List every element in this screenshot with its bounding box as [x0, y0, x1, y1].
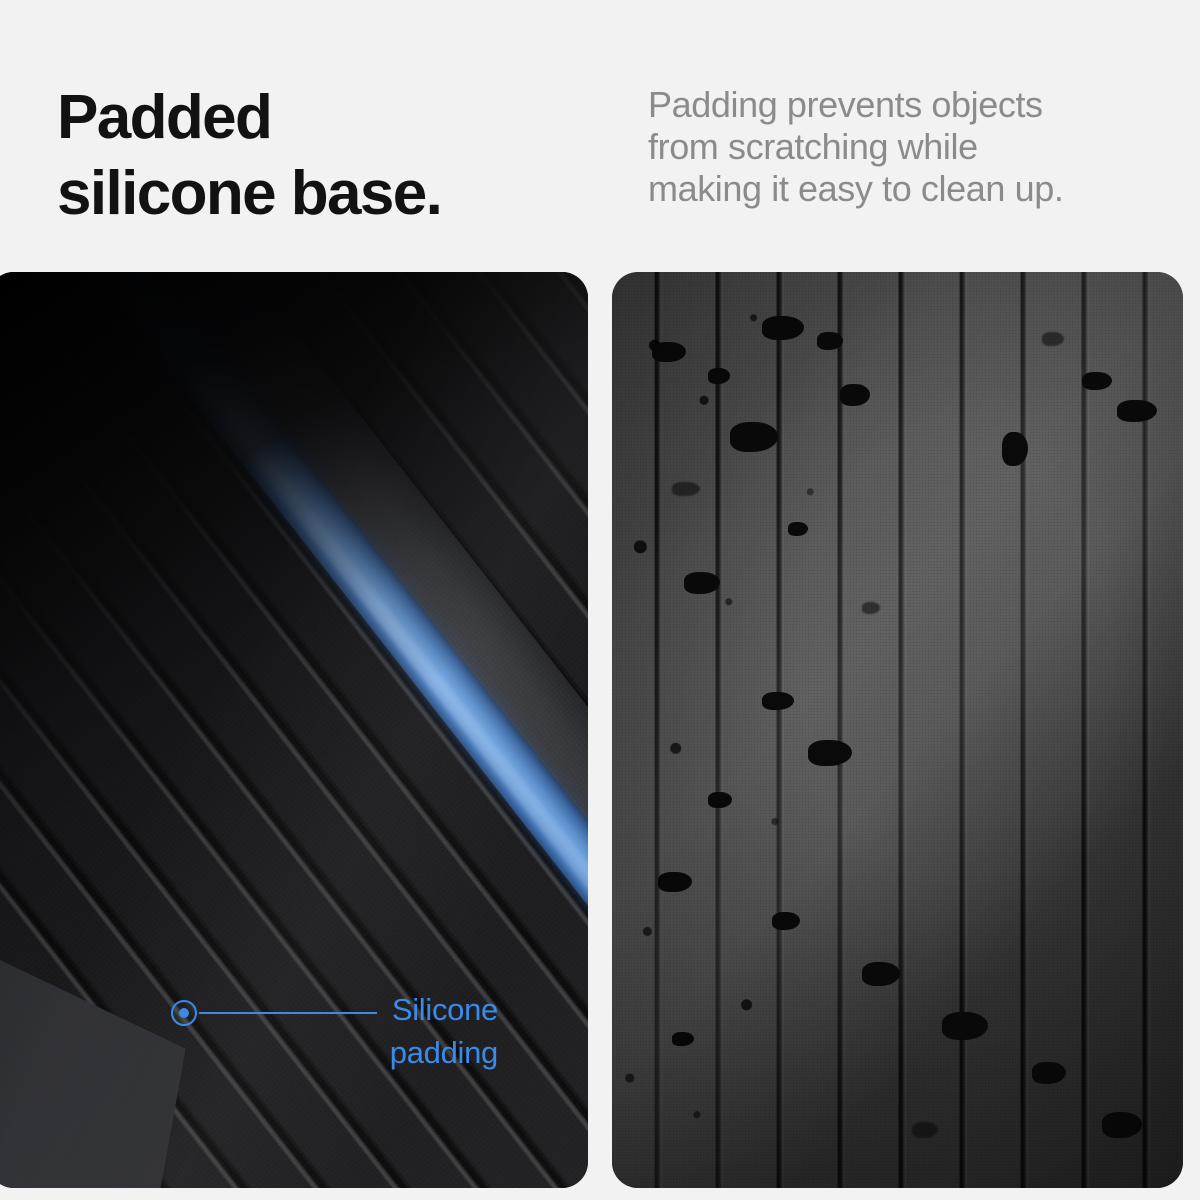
page-subtitle: Padding prevents objects from scratching… [648, 84, 1168, 210]
product-image-left: Silicone padding [0, 272, 588, 1188]
page-title: Padded silicone base. [57, 80, 577, 232]
product-image-right [612, 272, 1183, 1188]
callout-annotation: Silicone padding [0, 272, 588, 1188]
surface-vignette [612, 272, 1183, 1188]
header-section: Padded silicone base. Padding prevents o… [0, 0, 1200, 272]
callout-label: Silicone padding [178, 988, 498, 1074]
